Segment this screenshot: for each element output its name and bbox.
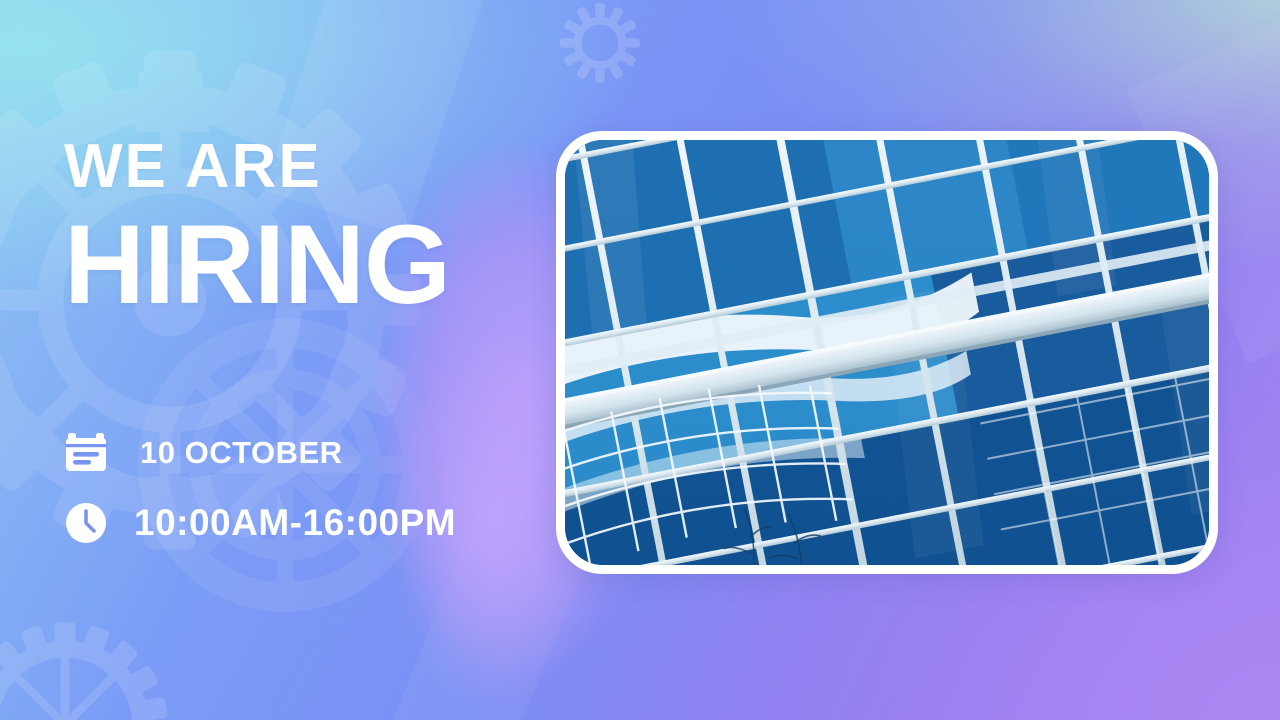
clock-icon xyxy=(64,501,116,545)
headline-block: WE ARE HIRING xyxy=(64,136,604,322)
calendar-icon xyxy=(64,431,116,475)
event-time-label: 10:00AM-16:00PM xyxy=(116,502,456,544)
hiring-poster: WE ARE HIRING 10 OCTOBER xyxy=(0,0,1280,720)
photo-card xyxy=(556,131,1218,574)
page-title: HIRING xyxy=(64,208,604,322)
detail-row-time: 10:00AM-16:00PM xyxy=(64,494,456,552)
event-details: 10 OCTOBER 10:00AM-16:00PM xyxy=(64,424,456,552)
detail-row-date: 10 OCTOBER xyxy=(64,424,456,482)
event-date-label: 10 OCTOBER xyxy=(116,435,343,471)
office-building-photo xyxy=(565,140,1209,565)
headline-top: WE ARE xyxy=(64,136,604,198)
gear-icon xyxy=(0,620,170,720)
gear-icon xyxy=(560,3,640,83)
